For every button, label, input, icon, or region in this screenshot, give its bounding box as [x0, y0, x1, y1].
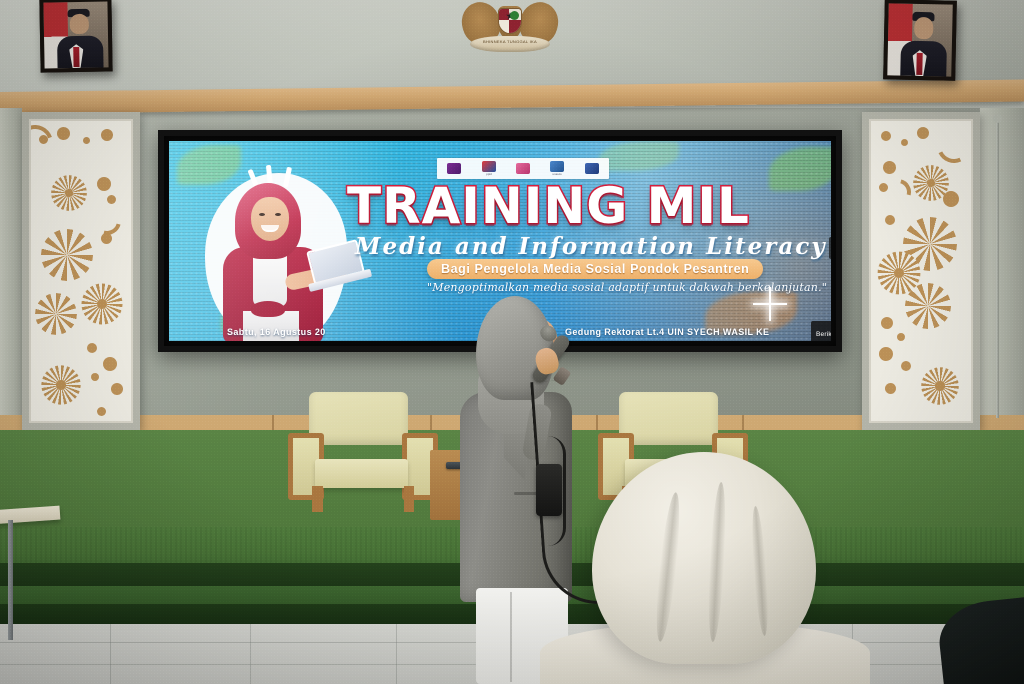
- banner-title-sub: Media and Information Literacy: [355, 233, 825, 260]
- stage-armchair-left: [288, 392, 438, 512]
- logo-ppid: ppid: [474, 161, 504, 176]
- banner-date-text: Sabtu, 16 Agustus 20: [227, 327, 326, 337]
- flag-pole: [996, 118, 999, 418]
- sparkle-star-icon: [753, 287, 787, 321]
- wall-pillar-left: [0, 108, 22, 448]
- framed-portrait-left: [39, 0, 112, 73]
- photo-scene: BHINNEKA TUNGGAL IKA: [0, 0, 1024, 684]
- logo-partner: [577, 163, 607, 175]
- wall-pillar-right: [980, 108, 1024, 448]
- next-tooltip-label: Berikutnya: [816, 331, 831, 338]
- flag-pole-knob: [993, 114, 1002, 123]
- logo-unesco: unesco: [542, 161, 572, 176]
- emblem-motto: BHINNEKA TUNGGAL IKA: [470, 39, 550, 44]
- foreground-table-leg: [8, 520, 13, 640]
- decorative-lasercut-panel-left: [22, 112, 140, 430]
- garuda-pancasila-emblem: BHINNEKA TUNGGAL IKA: [462, 0, 558, 58]
- framed-portrait-right: [883, 0, 957, 81]
- banner-audience-text: Bagi Pengelola Media Sosial Pondok Pesan…: [441, 262, 749, 276]
- logo-institution: [508, 163, 538, 175]
- audience-member-foreground: [540, 452, 870, 684]
- next-slide-arrow-icon[interactable]: [829, 237, 831, 259]
- partner-logo-strip: ppid unesco: [437, 158, 609, 179]
- banner-graphic-person: [199, 169, 357, 341]
- banner-title-main: TRAINING MIL: [347, 183, 817, 231]
- next-tooltip: Berikutnya: [811, 321, 831, 341]
- banner-audience-pill: Bagi Pengelola Media Sosial Pondok Pesan…: [427, 259, 763, 279]
- decorative-lasercut-panel-right: [862, 112, 980, 430]
- logo-kominfo: [439, 163, 469, 175]
- banner-venue-text: Gedung Rektorat Lt.4 UIN SYECH WASIL KE: [565, 327, 769, 337]
